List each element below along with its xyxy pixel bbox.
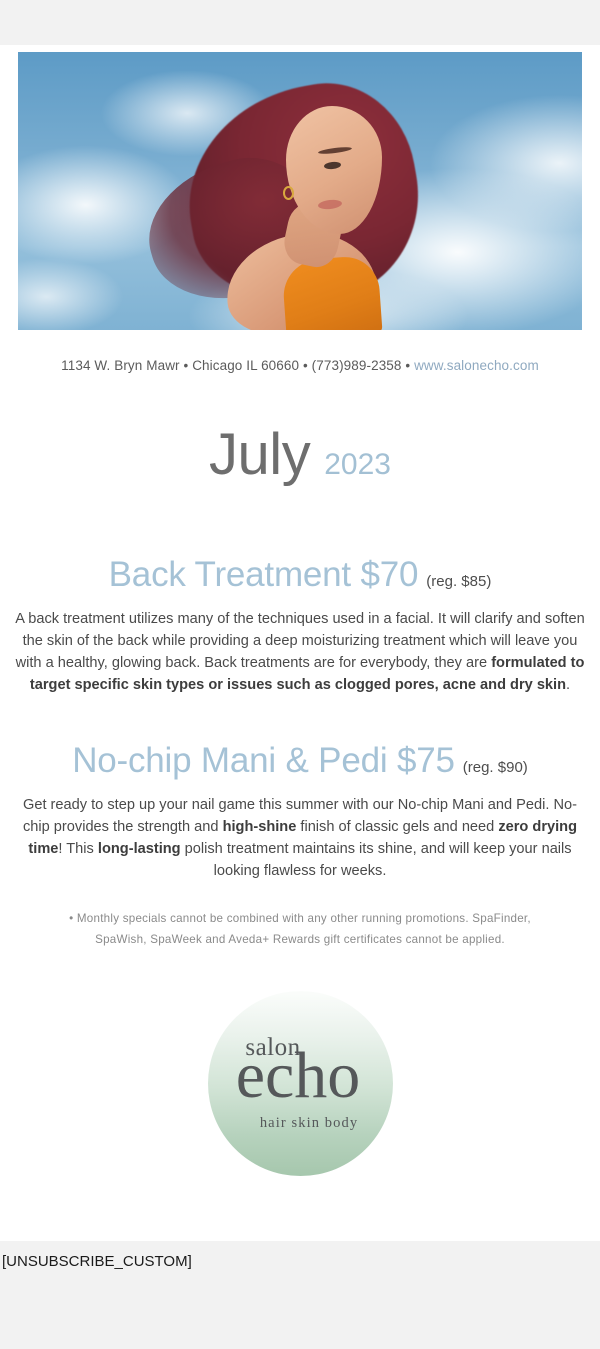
offer-1-text-plain-2: .: [566, 677, 570, 693]
offer-2-title: No-chip Mani & Pedi $75: [72, 741, 455, 780]
logo-word-echo: echo: [236, 1043, 361, 1109]
offer-1-description: A back treatment utilizes many of the te…: [12, 595, 588, 697]
salon-echo-logo: salon echo hair skin body: [208, 991, 393, 1176]
salon-logo-container: salon echo hair skin body: [0, 951, 600, 1176]
model-earring-shape: [283, 186, 294, 200]
salon-website-link[interactable]: www.salonecho.com: [414, 358, 539, 373]
logo-tagline: hair skin body: [260, 1115, 358, 1132]
hero-image: [18, 52, 582, 330]
offer-2-description: Get ready to step up your nail game this…: [12, 781, 588, 883]
offer-1-title: Back Treatment $70: [109, 555, 419, 594]
page-top-gutter: [0, 0, 600, 45]
salon-contact-line: 1134 W. Bryn Mawr • Chicago IL 60660 • (…: [0, 330, 600, 373]
salon-phone-number: (773)989-2358: [312, 358, 402, 373]
offer-1-heading: Back Treatment $70(reg. $85): [12, 556, 588, 595]
hero-image-container: [0, 45, 600, 330]
disclaimer-line-2: SpaWish, SpaWeek and Aveda+ Rewards gift…: [28, 929, 572, 950]
contact-separator-1: •: [180, 358, 193, 373]
offer-2-regular-price: (reg. $90): [463, 759, 528, 776]
offer-2-text-bold-1: high-shine: [223, 819, 297, 835]
offer-2-text-bold-3: long-lasting: [98, 841, 181, 857]
contact-separator-2: •: [299, 358, 312, 373]
offer-2-heading: No-chip Mani & Pedi $75(reg. $90): [12, 742, 588, 781]
salon-street-address: 1134 W. Bryn Mawr: [61, 358, 180, 373]
offer-2-text-plain-2: finish of classic gels and need: [296, 819, 498, 835]
newsletter-month-title: July2023: [0, 373, 600, 488]
offer-2-text-plain-4: polish treatment maintains its shine, an…: [181, 841, 572, 879]
email-body: 1134 W. Bryn Mawr • Chicago IL 60660 • (…: [0, 45, 600, 1241]
disclaimer-line-1: • Monthly specials cannot be combined wi…: [28, 908, 572, 929]
salon-city-state-zip: Chicago IL 60660: [192, 358, 299, 373]
offer-1-regular-price: (reg. $85): [426, 573, 491, 590]
email-body-bottom-spacer: [0, 1176, 600, 1241]
year-label: 2023: [324, 448, 391, 481]
unsubscribe-link[interactable]: [UNSUBSCRIBE_CUSTOM]: [0, 1253, 600, 1271]
contact-separator-3: •: [402, 358, 415, 373]
offer-no-chip-mani-pedi: No-chip Mani & Pedi $75(reg. $90) Get re…: [0, 696, 600, 882]
promotions-disclaimer: • Monthly specials cannot be combined wi…: [0, 882, 600, 950]
offer-2-text-plain-3: ! This: [58, 841, 97, 857]
offer-back-treatment: Back Treatment $70(reg. $85) A back trea…: [0, 488, 600, 696]
email-footer: [UNSUBSCRIBE_CUSTOM]: [0, 1241, 600, 1320]
month-name: July: [209, 422, 310, 487]
